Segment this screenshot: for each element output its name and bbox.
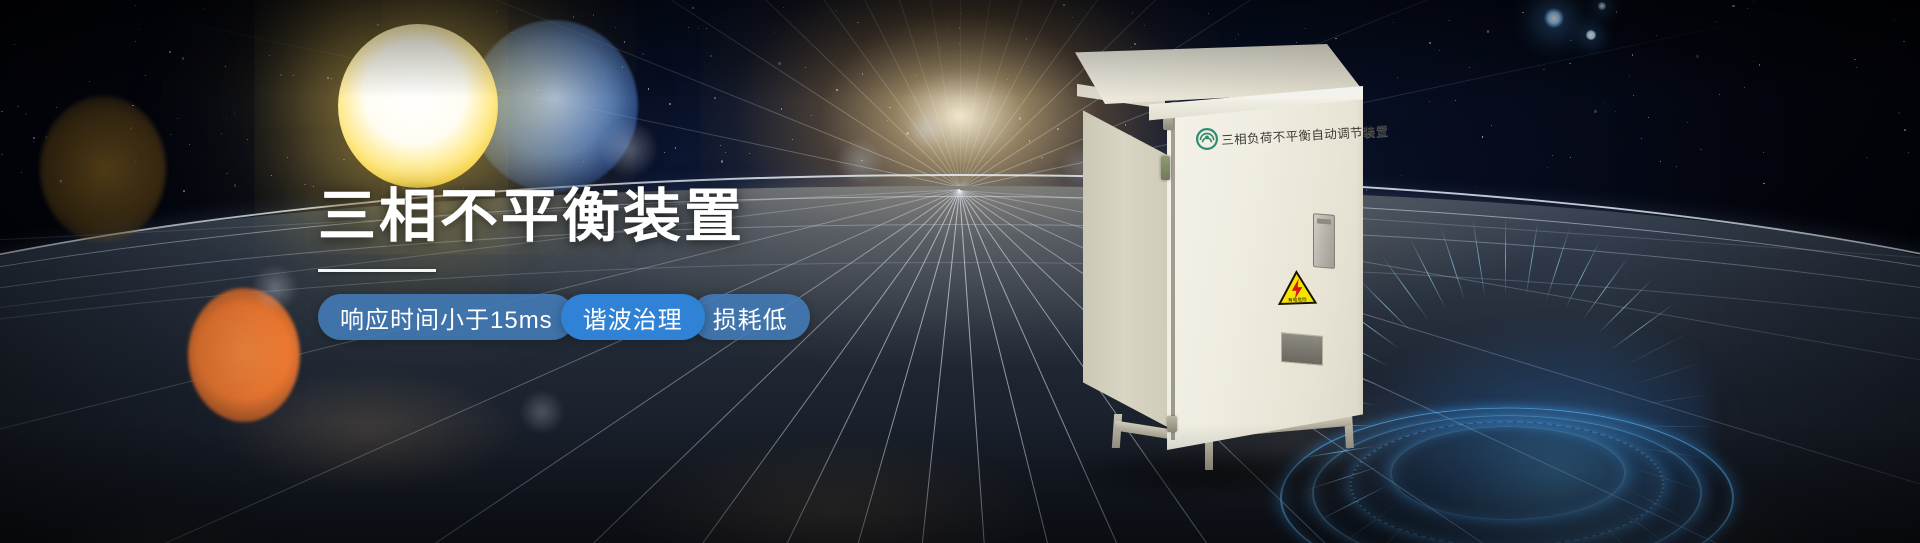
electrical-hazard-icon: 有电危险 bbox=[1276, 269, 1317, 306]
cabinet-side-panel bbox=[1083, 90, 1173, 430]
bokeh-yellow-orb bbox=[338, 24, 498, 188]
blue-spark-icon bbox=[1586, 30, 1596, 40]
product-cabinet: 三相负荷不平衡自动调节装置 有电危险 bbox=[1055, 18, 1385, 518]
banner-copy: 三相不平衡装置 响应时间小于15ms 谐波治理 损耗低 bbox=[318, 186, 938, 340]
bokeh-blue-orb bbox=[470, 20, 638, 192]
cabinet-vent-plate bbox=[1281, 332, 1323, 366]
feature-tag-low-loss[interactable]: 损耗低 bbox=[691, 294, 810, 340]
cabinet-door-handle bbox=[1313, 213, 1335, 269]
bokeh-small-orb bbox=[906, 110, 946, 150]
bokeh-small-orb bbox=[836, 138, 884, 186]
company-logo-icon bbox=[1196, 127, 1218, 151]
blue-spark-icon bbox=[1544, 8, 1564, 28]
blue-spark-icon bbox=[1598, 2, 1606, 10]
bokeh-small-orb bbox=[600, 120, 658, 178]
feature-tag-response-time[interactable]: 响应时间小于15ms bbox=[318, 294, 575, 340]
page-title: 三相不平衡装置 bbox=[318, 186, 938, 247]
feature-tag-list: 响应时间小于15ms 谐波治理 损耗低 bbox=[318, 294, 938, 340]
cabinet-latch bbox=[1161, 156, 1170, 180]
cabinet-hinge bbox=[1167, 416, 1177, 432]
title-divider bbox=[318, 269, 436, 272]
hero-banner: 三相负荷不平衡自动调节装置 有电危险 三相不平衡装置 响应时间小于15ms 谐波… bbox=[0, 0, 1920, 543]
feature-tag-harmonic[interactable]: 谐波治理 bbox=[561, 294, 705, 340]
cabinet-shadow bbox=[1075, 450, 1375, 498]
cabinet-door-seam bbox=[1171, 102, 1175, 440]
